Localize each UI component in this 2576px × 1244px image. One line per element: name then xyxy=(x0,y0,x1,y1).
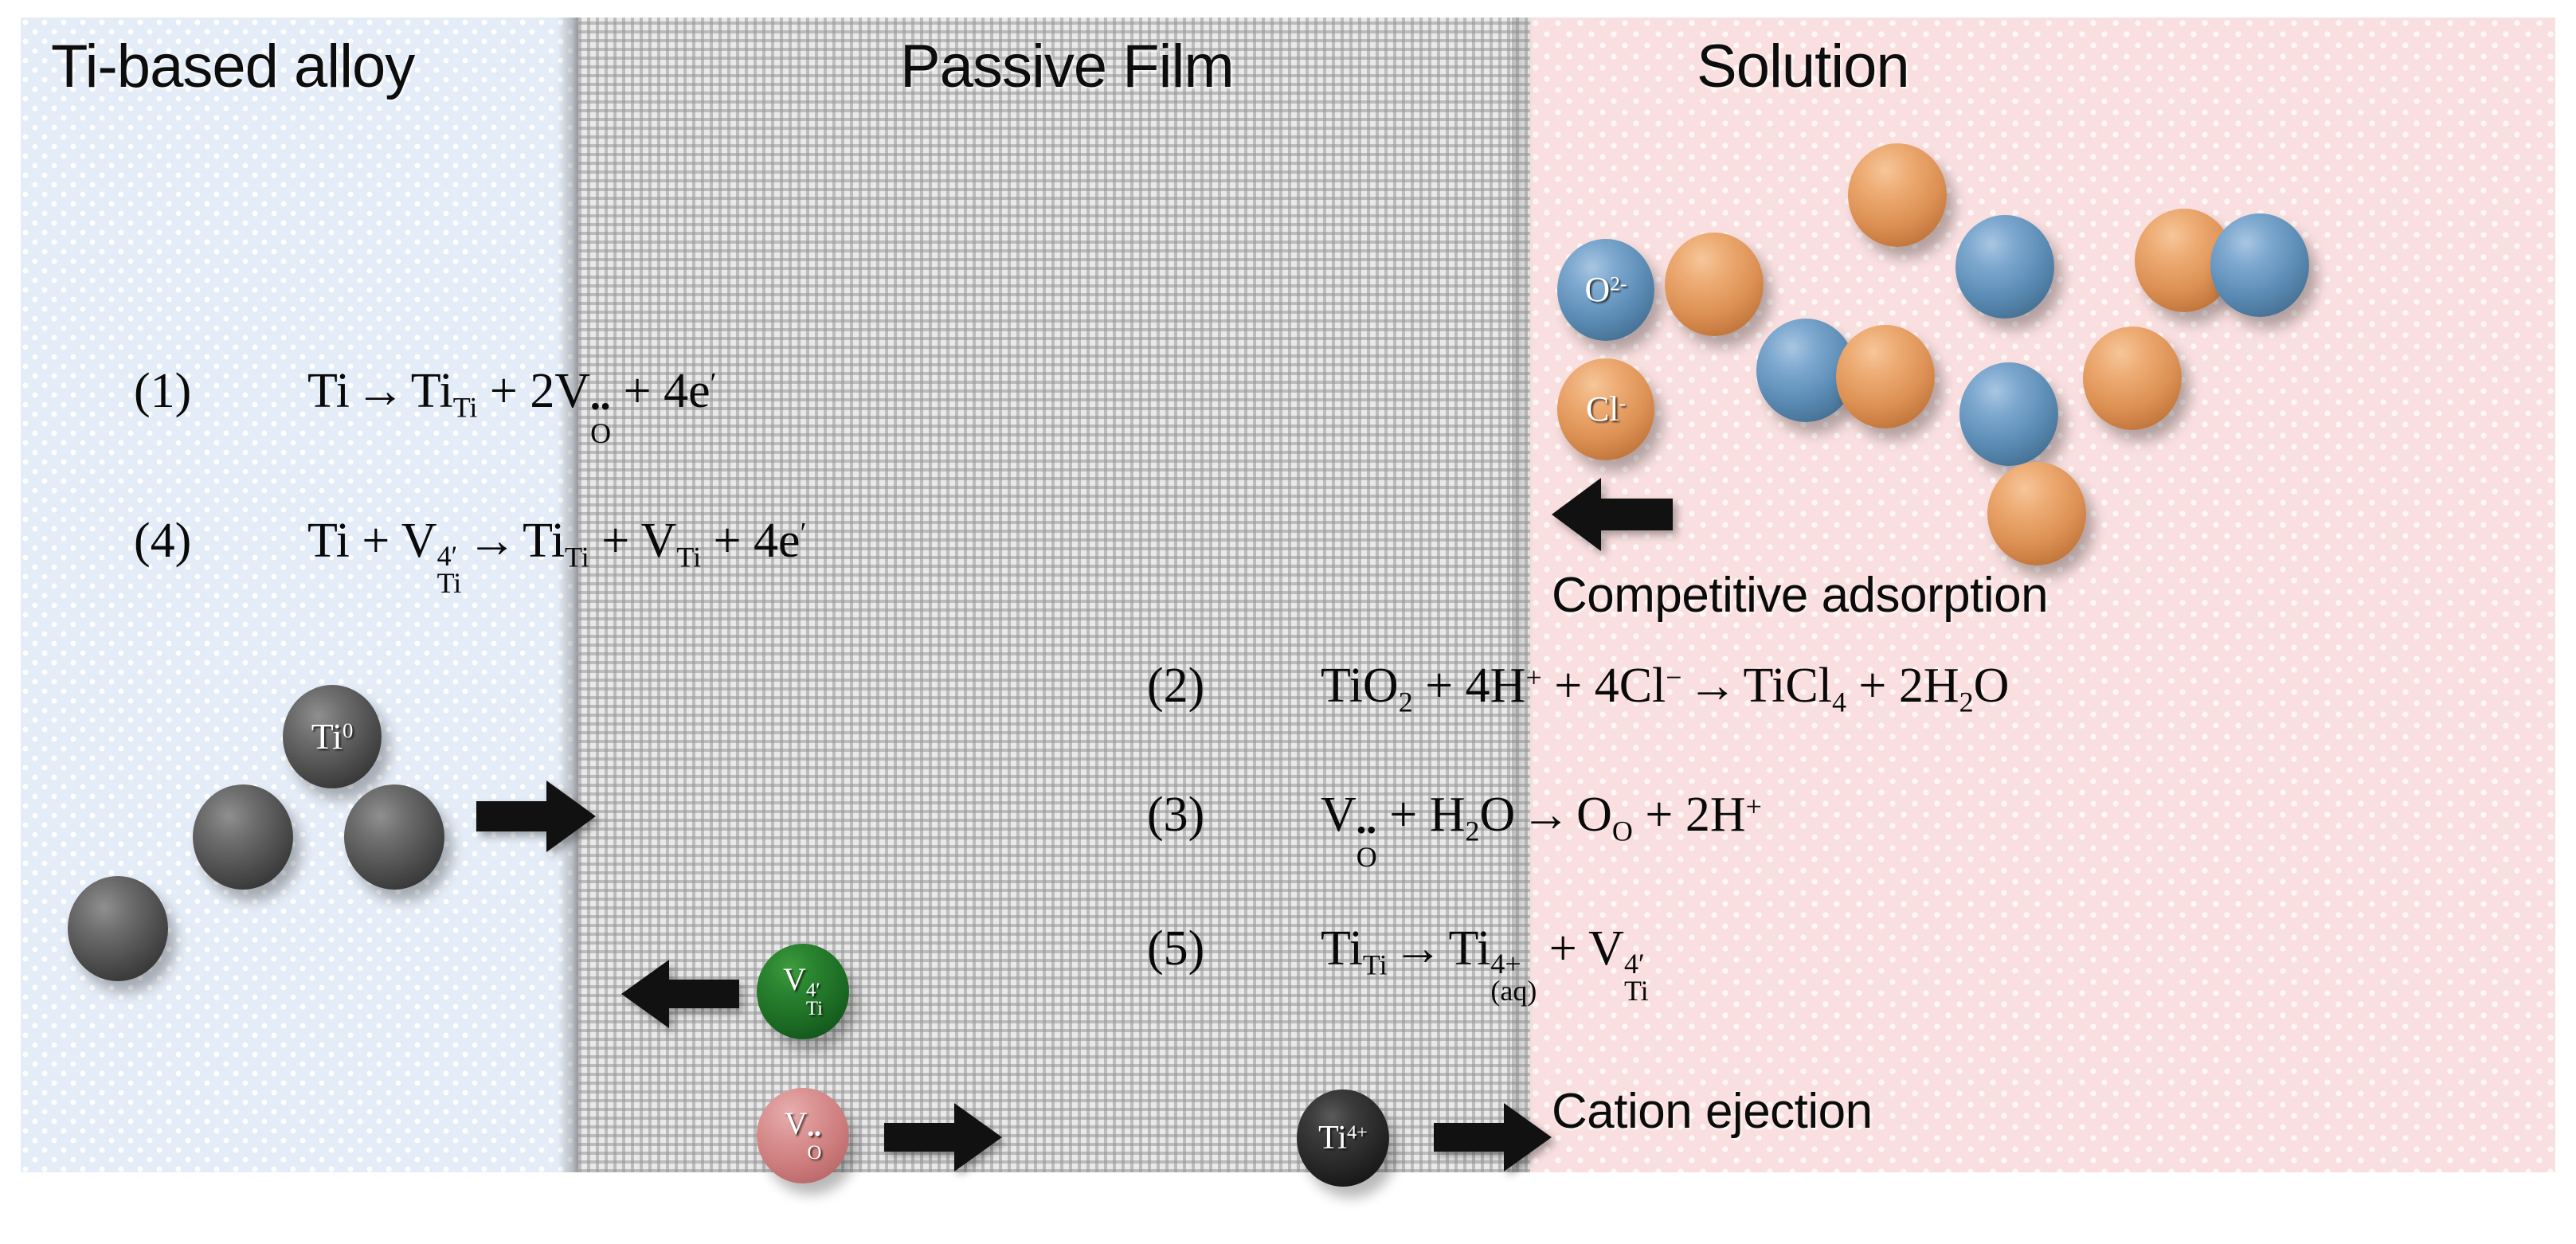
equation-5-body: TiTi→Ti4+(aq) + V4′Ti xyxy=(1321,924,1649,1006)
equation-1-body: Ti→TiTi + 2V••O + 4e′ xyxy=(307,366,717,448)
sphere-oxide-ion xyxy=(1959,362,2058,466)
equation-5: (5)TiTi→Ti4+(aq) + V4′Ti xyxy=(1147,924,1649,1006)
equation-5-number: (5) xyxy=(1147,921,1204,976)
sphere-label-o2minus: O2- xyxy=(1584,272,1627,307)
equation-4-body: Ti + V4′Ti→TiTi + VTi + 4e′ xyxy=(307,516,806,598)
sphere-label-v-ti: V4′Ti xyxy=(783,964,823,1019)
sphere-ti-vacancy: V4′Ti xyxy=(757,944,849,1039)
arrow-right-o-vacancy-migration xyxy=(884,1103,1002,1172)
reaction-arrow-icon: → xyxy=(1388,921,1449,976)
sphere-ti-neutral-labeled: Ti0 xyxy=(283,685,382,788)
equation-3-body: V••O + H2O→OO + 2H+ xyxy=(1321,790,1762,872)
reaction-arrow-icon: → xyxy=(350,364,411,418)
sphere-oxide-ion-labeled: O2- xyxy=(1557,239,1654,341)
sphere-ti-neutral xyxy=(193,784,293,890)
passive-film-diagram: Ti-based alloy Passive Film Solution (1)… xyxy=(0,0,2576,1244)
equation-4: (4)Ti + V4′Ti→TiTi + VTi + 4e′ xyxy=(134,516,806,598)
sphere-chloride-ion xyxy=(1665,233,1764,336)
sphere-label-v-o: V••O xyxy=(785,1108,822,1164)
arrow-left-competitive-adsorption xyxy=(1552,478,1673,551)
arrow-right-metal-oxidation xyxy=(476,780,596,852)
reaction-arrow-icon: → xyxy=(1682,659,1744,713)
sphere-chloride-ion-labeled: Cl- xyxy=(1557,358,1654,460)
sphere-label-ti4plus: Ti4+ xyxy=(1318,1121,1368,1155)
reaction-arrow-icon: → xyxy=(1515,788,1576,842)
sphere-label-clminus: Cl- xyxy=(1586,392,1626,427)
equation-3: (3)V••O + H2O→OO + 2H+ xyxy=(1147,790,1762,872)
sphere-oxide-ion xyxy=(2210,213,2309,317)
equation-4-number: (4) xyxy=(134,514,191,568)
sphere-chloride-ion xyxy=(1987,462,2086,565)
equation-1: (1)Ti→TiTi + 2V••O + 4e′ xyxy=(134,366,717,448)
sphere-ti-cation: Ti4+ xyxy=(1297,1089,1389,1187)
equation-2-body: TiO2 + 4H+ + 4Cl−→TiCl4 + 2H2O xyxy=(1321,661,2009,710)
caption-cation-ejection: Cation ejection xyxy=(1552,1083,1873,1140)
sphere-chloride-ion xyxy=(1848,143,1947,247)
caption-competitive-adsorption: Competitive adsorption xyxy=(1552,567,2048,624)
sphere-o-vacancy: V••O xyxy=(757,1088,849,1183)
arrow-left-ti-vacancy-migration xyxy=(621,960,739,1028)
zone-title-alloy: Ti-based alloy xyxy=(51,32,414,101)
equation-1-number: (1) xyxy=(134,364,191,418)
equation-3-number: (3) xyxy=(1147,788,1204,842)
zone-title-solution: Solution xyxy=(1697,32,1909,101)
reaction-arrow-icon: → xyxy=(461,514,523,568)
arrow-right-cation-ejection xyxy=(1434,1103,1552,1172)
zone-title-film: Passive Film xyxy=(900,32,1234,101)
sphere-ti-neutral xyxy=(344,784,444,890)
sphere-chloride-ion xyxy=(2083,327,2182,430)
sphere-ti-neutral xyxy=(68,876,168,981)
sphere-chloride-ion xyxy=(1836,325,1935,428)
sphere-oxide-ion xyxy=(1955,215,2054,319)
sphere-label-ti0: Ti0 xyxy=(311,718,354,755)
equation-2-number: (2) xyxy=(1147,659,1204,713)
equation-2: (2)TiO2 + 4H+ + 4Cl−→TiCl4 + 2H2O xyxy=(1147,661,2009,710)
